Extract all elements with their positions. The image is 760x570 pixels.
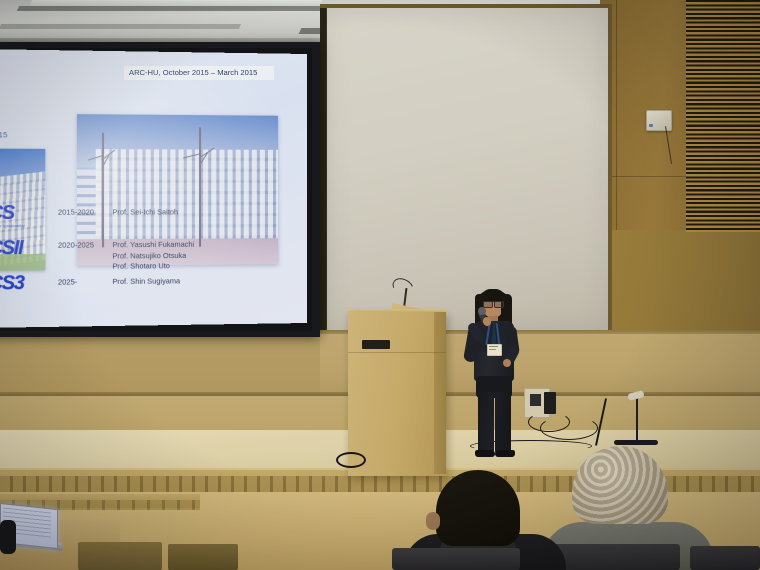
chair[interactable] [392, 548, 520, 570]
program-leads: Prof. Sei-Ichi Saitoh [112, 207, 178, 218]
presenter [462, 286, 534, 462]
program-leads: Prof. Yasushi Fukamachi Prof. Natsujiko … [112, 240, 194, 273]
wall-seam [600, 176, 686, 177]
ceiling-slot [17, 6, 349, 11]
audience-ear [426, 512, 440, 530]
arcs-logo: ArCSII [0, 238, 22, 261]
audience-hair-texture [572, 446, 668, 524]
microphone-grille-icon [478, 307, 486, 315]
screen-shadow [320, 8, 327, 330]
wood-back-wall-left [0, 336, 320, 398]
coiled-cable [336, 452, 366, 468]
slide-program-row: ArCS3 2025- Prof. Shin Sugiyama [0, 270, 307, 308]
program-years: 2015-2020 [58, 207, 94, 216]
program-leads: Prof. Shin Sugiyama [112, 276, 180, 287]
presenter-hand-right [503, 359, 511, 367]
blank-projection-screen [326, 8, 608, 330]
program-years: 2025- [58, 277, 77, 286]
wooden-lectern [348, 312, 446, 476]
presenter-shoe-right [495, 450, 515, 457]
name-badge-text-line [489, 346, 498, 347]
floor-microphone-stand [636, 398, 638, 442]
ceiling-slot [0, 24, 241, 29]
presenter-leg-right [495, 392, 511, 454]
slatted-acoustic-panel [686, 0, 760, 232]
stage-cable [540, 416, 598, 440]
glasses-bridge [483, 301, 503, 306]
program-years: 2020-2025 [58, 240, 94, 249]
wall-seam [616, 0, 617, 230]
av-panel-box [544, 392, 556, 414]
chair[interactable] [78, 542, 162, 570]
chair[interactable] [690, 546, 760, 570]
lectern-seam [348, 352, 446, 353]
microphone-stand-base [614, 440, 658, 445]
slide-program-row: ArCS Arctic Challenge for Sustainability… [0, 202, 307, 238]
arcs-tagline: Arctic Challenge for Sustainability [0, 224, 25, 228]
lecture-hall-photo: ted –September 2015 ArCS Arctic Challeng… [0, 0, 760, 570]
slide-photo-banner-label: ARC-HU, October 2015 – March 2015 [129, 68, 257, 77]
arcs-logo: ArCS3 [0, 273, 24, 296]
laptop-operator [0, 520, 16, 554]
slide-subtitle-fragment: –September 2015 [0, 130, 8, 140]
presenter-shoe-left [475, 450, 495, 457]
audience-hair [436, 470, 520, 546]
presenter-leg-left [478, 392, 494, 454]
name-badge-text-line [489, 349, 496, 350]
presentation-slide: ted –September 2015 ArCS Arctic Challeng… [0, 49, 307, 328]
lectern-side-panel [434, 312, 446, 474]
chair[interactable] [168, 544, 238, 570]
lectern-name-plate [362, 340, 390, 349]
led-indicator-icon [649, 124, 653, 127]
slide-program-row: ArCSII 2020-2025 Prof. Yasushi Fukamachi… [0, 236, 307, 273]
arcs-logo: ArCS [0, 202, 14, 225]
wall-speaker-icon [646, 110, 672, 131]
